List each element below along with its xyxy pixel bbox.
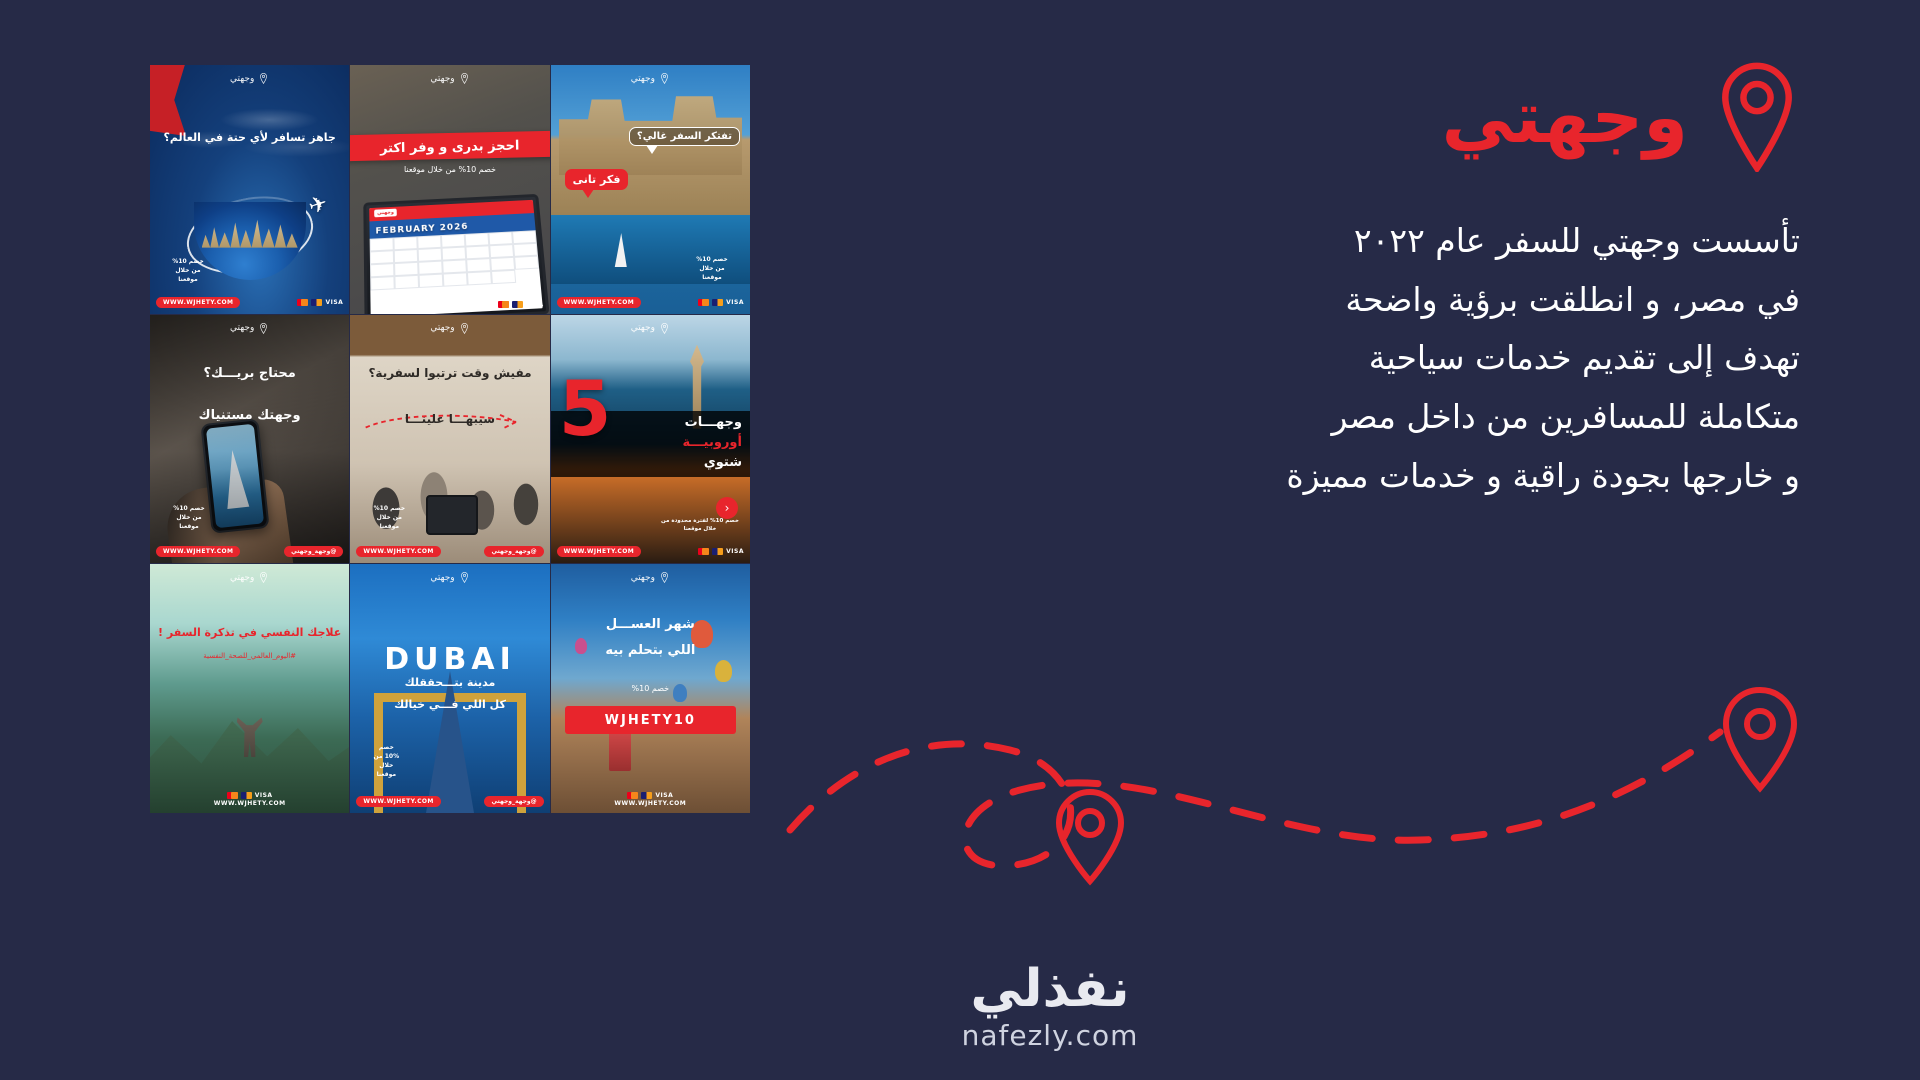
calendar-day [370,263,394,277]
dashed-route-decoration [760,640,1920,940]
discount-line-2: من خلال [360,513,418,522]
about-line-1: تأسست وجهتي للسفر عام ٢٠٢٢ [1100,212,1800,271]
website-pill[interactable]: WWW.WJHETY.COM [557,297,641,308]
cell-footer: WWW.WJHETY.COM VISA [551,546,750,557]
brand-watermark: وجهتي [150,572,349,583]
card-icon [641,792,652,799]
discount-line-2: من خلال [160,513,218,522]
visa-label: VISA [726,548,744,555]
payment-methods: VISA [227,792,273,799]
mastercard-icon [627,792,638,799]
grid-cell-need-a-break[interactable]: وجهتي محتاج بريـــك؟ وجهتك مستنياك خصم 1… [150,315,349,564]
grid-cell-five-european-destinations[interactable]: 5 وجهتي وجهـــات أوروبيـــة شتوي › خصم 1… [551,315,750,564]
speech-bubble-question: تفتكر السفر غالي؟ [629,127,740,146]
site-logo-chip: وجهتي [374,208,397,217]
discount-line-2: 10% من [360,752,412,761]
social-handle-pill[interactable]: @وجهة_وجهتي [484,546,543,557]
brand-watermark: وجهتي [350,572,549,583]
discount-line-3: موقعنا [158,275,218,284]
portfolio-grid: ✈ وجهتي جاهز تسافر لأي حتة في العالم؟ خص… [150,65,750,813]
calendar-day [490,244,515,258]
watermark-label: وجهتي [230,573,254,583]
about-line-3: تهدف إلى تقديم خدمات سياحية [1100,329,1800,388]
watermark-label: وجهتي [230,323,254,333]
payment-methods: VISA [698,299,744,306]
mastercard-icon [227,792,238,799]
discount-label: خصم 10% [555,684,746,695]
website-pill[interactable]: WWW.WJHETY.COM [356,546,440,557]
cell-subline: وجهتك مستنياك [154,407,345,425]
calendar-day [370,237,394,251]
hot-air-balloon-icon [715,660,732,682]
calendar-day [418,247,442,261]
discount-line-1: خصم 10% [360,504,418,513]
calendar-day [513,243,538,257]
cell-subline: خصم 10% من خلال موقعنا [354,165,545,176]
cell-headline: جاهز تسافر لأي حتة في العالم؟ [154,131,345,146]
payment-and-site: VISA WWW.WJHETY.COM [614,792,686,807]
calendar-day [491,269,516,283]
location-pin-icon [459,73,470,84]
cell-headline-2: اللي بتحلم بيه [555,642,746,660]
visa-label: VISA [655,792,673,799]
cell-footer: WWW.WJHETY.COM VISA [150,297,349,308]
calendar-day [370,250,394,264]
brand-watermark: وجهتي [350,323,549,334]
website-pill[interactable]: WWW.WJHETY.COM [156,297,240,308]
brand-watermark: وجهتي [150,323,349,334]
calendar-day [418,235,442,249]
calendar-grid [370,230,541,290]
burj-khalifa-shape [426,671,474,813]
calendar-day [442,259,467,273]
location-pin-icon [659,323,670,334]
card-icon [311,299,322,306]
brand-watermark: وجهتي [150,73,349,84]
location-pin-icon [659,572,670,583]
discount-line-1: خصم [360,743,412,752]
location-pin-icon [258,323,269,334]
speech-bubble-answer: فكر تانى [565,169,629,190]
mastercard-icon [498,301,509,308]
discount-line-3: موقعنا [360,522,418,531]
watermark-label: وجهتي [430,74,454,84]
cell-footer: WWW.WJHETY.COM VISA [551,297,750,308]
laptop-mockup: وجهتي [364,194,550,314]
watermark-label: وجهتي [230,74,254,84]
discount-line-3: خلال [360,761,412,770]
calendar-day [465,232,490,246]
card-icon [241,792,252,799]
grid-cell-travel-expensive[interactable]: وجهتي تفتكر السفر غالي؟ فكر تانى خصم 10%… [551,65,750,314]
route-pin-left [1059,792,1121,881]
discount-line-4: موقعنا [360,770,412,779]
discount-note: خصم 10% من خلال موقعنا [360,504,418,531]
watermark-label: وجهتي [631,323,655,333]
headline-line-1: وجهـــات [682,413,742,433]
calendar-day [512,230,537,244]
big-number: 5 [559,377,612,442]
location-pin-icon [459,572,470,583]
about-line-4: متكاملة للمسافرين من داخل مصر [1100,388,1800,447]
website-pill[interactable]: WWW.WJHETY.COM [156,546,240,557]
watermark-label: وجهتي [430,573,454,583]
suitcase-shape [426,495,478,535]
grid-cell-no-time-to-plan[interactable]: وجهتي مفيش وقت ترتبوا لسفرية؟ سيبهـــا ع… [350,315,549,564]
location-pin-icon [659,73,670,84]
watermark-label: وجهتي [430,323,454,333]
payment-methods: VISA [627,792,673,799]
promo-code-bar[interactable]: WJHETY10 [565,706,736,734]
cell-headline: محتاج بريـــك؟ [154,365,345,383]
slide-root: ✈ وجهتي جاهز تسافر لأي حتة في العالم؟ خص… [0,0,1920,1080]
headline-line-3: شتوي [682,453,742,473]
mastercard-icon [297,299,308,306]
website-pill[interactable]: WWW.WJHETY.COM [356,796,440,807]
calendar-day [394,261,419,275]
brand-lockup: وجهتي [1442,62,1800,172]
watermark-label: وجهتي [631,74,655,84]
nafezly-arabic: نفذلي [900,963,1200,1015]
about-paragraph: تأسست وجهتي للسفر عام ٢٠٢٢ في مصر، و انط… [1100,212,1800,506]
card-icon [712,299,723,306]
cell-subline: سيبهـــا علينـــا [354,411,545,427]
cell-footer: WWW.WJHETY.COM @وجهة_وجهتي [350,546,549,557]
calendar-day [394,236,418,250]
visa-label: VISA [325,299,343,306]
discount-note: خصم 10% لفترة محدودة من خلال موقعنا [658,517,742,534]
visa-label: VISA [526,301,544,308]
calendar-day [394,249,418,263]
payment-methods: VISA [698,548,744,555]
calendar-day [466,258,491,272]
calendar-day [443,272,468,286]
discount-line-1: خصم 10% [684,255,740,264]
location-pin-icon [1714,62,1800,172]
calendar-day [467,271,492,285]
brand-watermark: وجهتي [551,323,750,334]
cell-headline-group: وجهـــات أوروبيـــة شتوي [682,413,742,473]
calendar-day [442,246,467,260]
cell-footer: VISA WWW.WJHETY.COM [150,792,349,807]
cell-subline-2: كل اللي فـــي خيالك [354,698,545,713]
watermark-label: وجهتي [631,573,655,583]
grid-cell-book-early[interactable]: وجهتي احجز بدرى و وفر اكتر خصم 10% من خل… [350,65,549,314]
discount-line-2: من خلال [158,266,218,275]
about-line-2: في مصر، و انطلقت برؤية واضحة [1100,271,1800,330]
cell-headline: علاجك النفسي في تذكرة السفر ! [154,626,345,641]
payment-and-site: VISA WWW.WJHETY.COM [214,792,286,807]
card-icon [712,548,723,555]
cell-footer: WWW.WJHETY.COM @وجهة_وجهتي [350,796,549,807]
website-label[interactable]: WWW.WJHETY.COM [614,800,686,807]
discount-line-1: خصم 10% [158,257,218,266]
discount-note: خصم 10% من خلال موقعنا [160,504,218,531]
calendar-day [370,276,395,290]
grid-cell-dubai[interactable]: وجهتي DUBAI مدينة بتـــحققلك كل اللي فــ… [350,564,549,813]
grid-cell-honeymoon[interactable]: وجهتي شهر العســـل اللي بتحلم بيه خصم 10… [551,564,750,813]
about-line-5: و خارجها بجودة راقية و خدمات مميزة [1100,447,1800,506]
location-pin-icon [258,73,269,84]
brand-watermark: وجهتي [551,572,750,583]
calendar-day [418,260,443,274]
visa-label: VISA [726,299,744,306]
grid-cell-travel-anywhere[interactable]: ✈ وجهتي جاهز تسافر لأي حتة في العالم؟ خص… [150,65,349,314]
calendar-day [419,273,444,287]
headline-line-2: أوروبيـــة [682,433,742,453]
cell-hashtag: #اليوم_العالمي_للصحة_النفسية [154,652,345,661]
cell-subline-1: مدينة بتـــحققلك [354,676,545,691]
cell-headline: احجز بدرى و وفر اكتر [350,133,549,161]
route-pin-right [1726,690,1794,788]
discount-note: خصم 10% من خلال موقعنا [684,255,740,282]
cell-headline: DUBAI [350,642,549,677]
website-label[interactable]: WWW.WJHETY.COM [214,800,286,807]
card-icon [512,301,523,308]
payment-methods: VISA [297,299,343,306]
mastercard-icon [698,548,709,555]
laptop-screen: وجهتي [370,199,544,313]
social-handle-pill[interactable]: @وجهة_وجهتي [484,796,543,807]
visa-label: VISA [255,792,273,799]
discount-line-3: موقعنا [160,522,218,531]
nafezly-latin: nafezly.com [900,1019,1200,1052]
payment-methods: VISA [498,301,544,308]
social-handle-pill[interactable]: @وجهة_وجهتي [284,546,343,557]
cell-footer: VISA WWW.WJHETY.COM [551,792,750,807]
discount-line-3: موقعنا [684,273,740,282]
nafezly-watermark: نفذلي nafezly.com [900,963,1200,1052]
calendar-day [441,234,465,248]
cell-headline-1: شهر العســـل [555,616,746,634]
location-pin-icon [459,323,470,334]
calendar-day [395,274,420,288]
discount-note: خصم 10% من خلال موقعنا [158,257,218,284]
grid-cell-mental-health-day[interactable]: وجهتي علاجك النفسي في تذكرة السفر ! #الي… [150,564,349,813]
calendar-day [466,245,491,259]
discount-note: خصم 10% من خلال موقعنا [360,743,412,779]
calendar-day [514,255,539,269]
location-pin-icon [258,572,269,583]
brand-watermark: وجهتي [350,73,549,84]
calendar-day [489,231,514,245]
cell-headline: مفيش وقت ترتبوا لسفرية؟ [354,365,545,381]
mastercard-icon [698,299,709,306]
discount-line-1: خصم 10% [160,504,218,513]
calendar-day [490,257,515,271]
brand-watermark: وجهتي [551,73,750,84]
cell-footer: WWW.WJHETY.COM @وجهة_وجهتي [150,546,349,557]
website-pill[interactable]: WWW.WJHETY.COM [557,546,641,557]
discount-line-2: من خلال [684,264,740,273]
cell-footer: VISA [350,301,549,308]
brand-name: وجهتي [1442,81,1688,153]
